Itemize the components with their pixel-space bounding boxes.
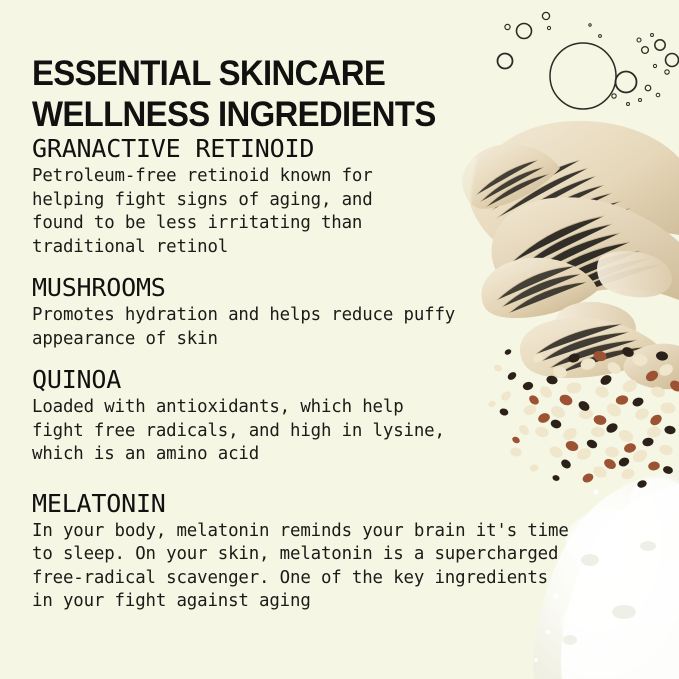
ingredient-sections: GRANACTIVE RETINOID Petroleum-free retin…: [32, 134, 657, 628]
ingredient-heading-mushrooms: MUSHROOMS: [32, 273, 657, 302]
ingredient-description-mushrooms: Promotes hydration and helps reduce puff…: [32, 304, 657, 351]
ingredient-description-quinoa: Loaded with antioxidants, which help fig…: [32, 396, 657, 467]
ingredient-heading-melatonin: MELATONIN: [32, 489, 657, 518]
ingredient-section-granactive-retinoid: GRANACTIVE RETINOID Petroleum-free retin…: [32, 134, 657, 259]
ingredient-heading-granactive-retinoid: GRANACTIVE RETINOID: [32, 134, 657, 163]
ingredient-section-quinoa: QUINOA Loaded with antioxidants, which h…: [32, 365, 657, 467]
page-title: ESSENTIAL SKINCARE WELLNESS INGREDIENTS: [32, 53, 521, 135]
content-layer: ESSENTIAL SKINCARE WELLNESS INGREDIENTS …: [0, 0, 679, 679]
ingredient-description-granactive-retinoid: Petroleum-free retinoid known for helpin…: [32, 165, 657, 259]
ingredients-poster: ESSENTIAL SKINCARE WELLNESS INGREDIENTS …: [0, 0, 679, 679]
ingredient-heading-quinoa: QUINOA: [32, 365, 657, 394]
ingredient-section-mushrooms: MUSHROOMS Promotes hydration and helps r…: [32, 273, 657, 351]
ingredient-description-melatonin: In your body, melatonin reminds your bra…: [32, 520, 657, 614]
ingredient-section-melatonin: MELATONIN In your body, melatonin remind…: [32, 489, 657, 614]
